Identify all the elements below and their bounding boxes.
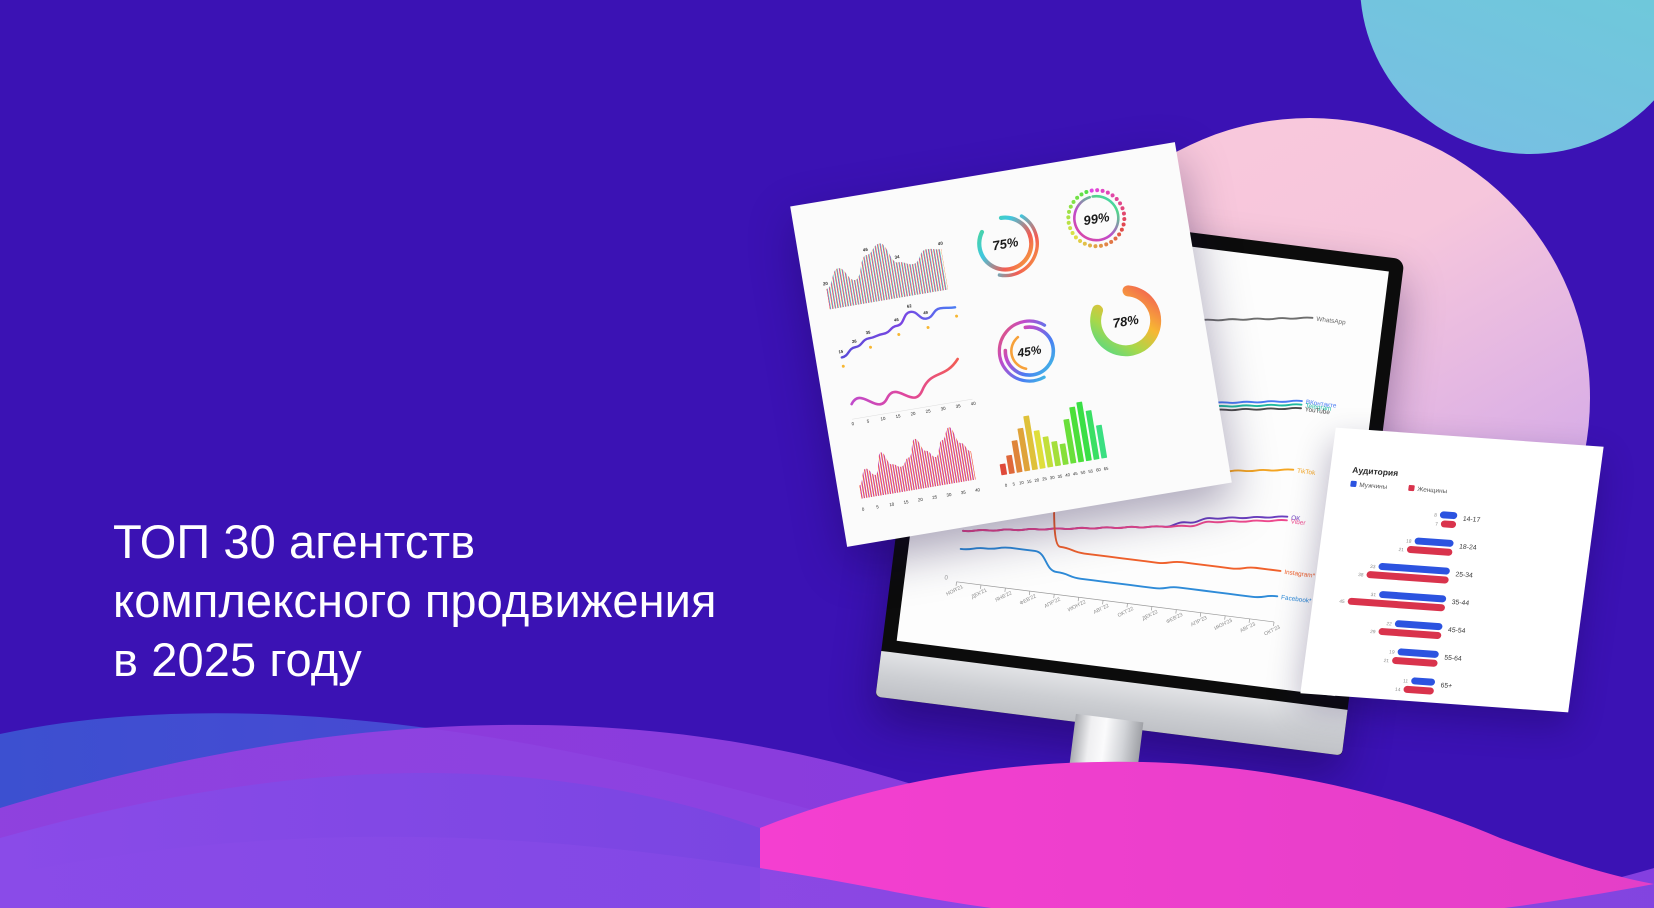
svg-text:78%: 78% [1112, 312, 1141, 331]
svg-text:0: 0 [1004, 482, 1008, 487]
svg-text:0: 0 [851, 421, 855, 426]
svg-text:49: 49 [923, 310, 929, 316]
svg-text:65: 65 [1103, 466, 1109, 472]
svg-text:46: 46 [863, 247, 869, 253]
svg-text:34: 34 [894, 254, 900, 260]
svg-text:ИЮН'23: ИЮН'23 [1213, 618, 1233, 632]
svg-text:18: 18 [1406, 539, 1412, 545]
svg-text:30: 30 [940, 406, 946, 412]
svg-text:20: 20 [823, 281, 829, 287]
svg-text:62: 62 [907, 303, 913, 309]
svg-text:40: 40 [975, 487, 981, 493]
svg-text:10: 10 [880, 416, 886, 422]
wave-decoration [0, 688, 1654, 908]
svg-text:40: 40 [1065, 472, 1071, 478]
svg-text:Viber: Viber [1290, 518, 1306, 527]
svg-text:46: 46 [894, 317, 900, 323]
svg-text:5: 5 [876, 504, 880, 509]
svg-text:TikTok: TikTok [1297, 468, 1317, 477]
svg-text:29: 29 [1370, 629, 1376, 635]
svg-text:35: 35 [960, 489, 966, 495]
svg-text:25: 25 [932, 494, 938, 500]
svg-text:7: 7 [1435, 522, 1439, 528]
svg-text:АВГ'22: АВГ'22 [1093, 603, 1111, 616]
svg-text:НОЯ'21: НОЯ'21 [945, 584, 964, 598]
svg-text:26: 26 [852, 338, 858, 344]
svg-text:20: 20 [1034, 477, 1040, 483]
svg-text:Instagram*: Instagram* [1284, 569, 1316, 580]
svg-text:45%: 45% [1015, 342, 1042, 360]
svg-text:20: 20 [918, 497, 924, 503]
svg-text:ДЕК'21: ДЕК'21 [970, 587, 988, 600]
svg-text:АВГ'23: АВГ'23 [1239, 621, 1257, 634]
svg-text:5: 5 [866, 418, 870, 423]
svg-text:30: 30 [946, 492, 952, 498]
page-title: ТОП 30 агентств комплексного продвижения… [113, 512, 893, 689]
svg-text:45: 45 [1073, 471, 1079, 477]
svg-text:99%: 99% [1082, 209, 1111, 228]
svg-text:Мужчины: Мужчины [1359, 482, 1388, 491]
svg-text:АПР'22: АПР'22 [1043, 597, 1061, 610]
svg-text:38: 38 [1358, 572, 1364, 578]
svg-text:35: 35 [955, 403, 961, 409]
svg-text:Женщины: Женщины [1417, 486, 1448, 495]
svg-text:ФЕВ'23: ФЕВ'23 [1165, 612, 1184, 625]
svg-text:25-34: 25-34 [1455, 571, 1474, 579]
svg-text:WhatsApp: WhatsApp [1316, 316, 1347, 327]
svg-text:33: 33 [1370, 564, 1376, 570]
svg-text:20: 20 [910, 411, 916, 417]
svg-text:15: 15 [1026, 478, 1032, 484]
svg-text:ОКТ'23: ОКТ'23 [1263, 624, 1281, 637]
audience-age-card: АудиторияМужчиныЖенщины8714-17182118-243… [1300, 428, 1603, 713]
svg-text:ОКТ'22: ОКТ'22 [1117, 606, 1135, 619]
svg-text:60: 60 [1096, 467, 1102, 473]
svg-text:11: 11 [1403, 678, 1409, 684]
svg-text:40: 40 [938, 240, 944, 246]
svg-text:0: 0 [862, 506, 866, 511]
infographic-charts: 2046344015263546624905101520253035400510… [790, 142, 1232, 547]
svg-text:35: 35 [1057, 473, 1063, 479]
svg-text:15: 15 [903, 499, 909, 505]
teal-circle-decoration [1360, 0, 1654, 154]
svg-text:22: 22 [1386, 621, 1392, 627]
svg-text:15: 15 [895, 413, 901, 419]
svg-text:25: 25 [925, 408, 931, 414]
svg-text:АПР'23: АПР'23 [1190, 615, 1208, 628]
svg-text:35: 35 [865, 329, 871, 335]
svg-text:14-17: 14-17 [1462, 516, 1481, 524]
svg-text:55: 55 [1088, 468, 1094, 474]
promo-banner: ТОП 30 агентств комплексного продвижения… [0, 0, 1654, 908]
svg-text:21: 21 [1398, 547, 1404, 553]
infographic-card: 2046344015263546624905101520253035400510… [790, 142, 1232, 547]
svg-text:Facebook*: Facebook* [1281, 594, 1313, 605]
svg-text:10: 10 [1019, 480, 1025, 486]
svg-text:8: 8 [1434, 513, 1438, 519]
audience-by-age-chart: АудиторияМужчиныЖенщины8714-17182118-243… [1300, 428, 1603, 713]
svg-text:25: 25 [1042, 476, 1048, 482]
svg-text:0: 0 [944, 574, 949, 581]
svg-text:35-44: 35-44 [1451, 599, 1470, 607]
svg-text:ИЮН'22: ИЮН'22 [1067, 599, 1087, 613]
svg-text:45: 45 [1339, 599, 1345, 605]
svg-text:45-54: 45-54 [1448, 627, 1467, 635]
svg-text:5: 5 [1012, 481, 1016, 486]
svg-text:31: 31 [1370, 592, 1376, 598]
svg-text:75%: 75% [991, 234, 1020, 253]
svg-text:ЯНВ'22: ЯНВ'22 [994, 590, 1013, 603]
svg-text:10: 10 [889, 501, 895, 507]
svg-text:19: 19 [1389, 649, 1395, 655]
svg-text:ФЕВ'22: ФЕВ'22 [1019, 593, 1038, 606]
svg-text:18-24: 18-24 [1459, 544, 1478, 552]
svg-text:40: 40 [970, 401, 976, 407]
svg-text:ДЕК'22: ДЕК'22 [1141, 609, 1159, 622]
svg-text:30: 30 [1050, 475, 1056, 481]
svg-text:21: 21 [1383, 658, 1389, 664]
svg-text:55-64: 55-64 [1444, 655, 1463, 663]
svg-text:Аудитория: Аудитория [1352, 465, 1399, 478]
svg-text:50: 50 [1080, 469, 1086, 475]
svg-text:15: 15 [838, 349, 844, 355]
